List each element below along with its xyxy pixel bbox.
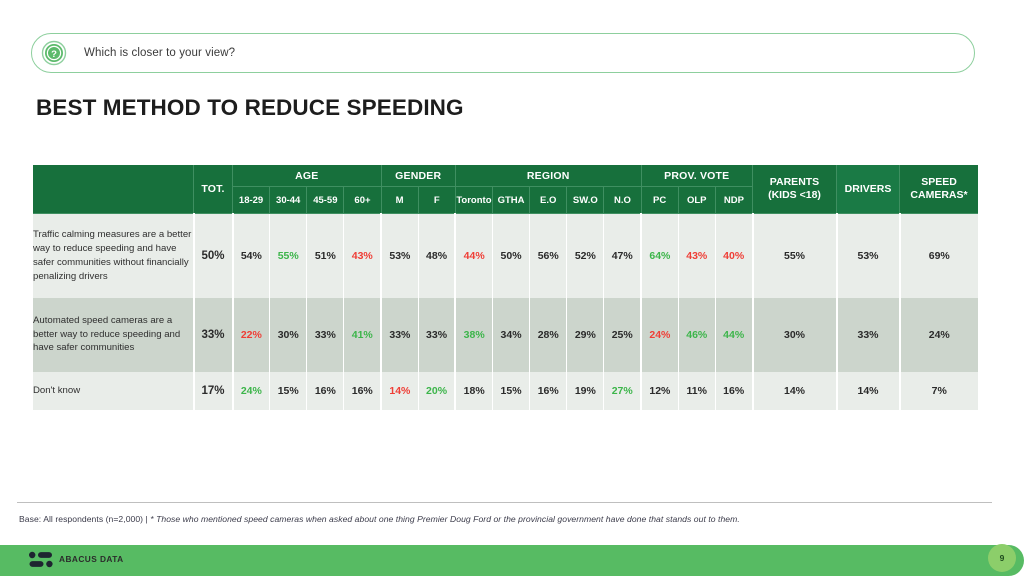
table-cell: 53%: [381, 214, 418, 298]
table-cell: 20%: [418, 372, 455, 410]
header-group-age: AGE: [233, 165, 382, 187]
table-cell: 52%: [567, 214, 604, 298]
table-cell: 14%: [753, 372, 837, 410]
table-row: Don't know17%24%15%16%16%14%20%18%15%16%…: [33, 372, 978, 410]
header-parents-line1: PARENTS(KIDS <18): [768, 176, 821, 201]
abacus-data-logo-icon: [29, 551, 53, 568]
table-cell: 16%: [530, 372, 567, 410]
table-cell: 54%: [233, 214, 270, 298]
page-title: BEST METHOD TO REDUCE SPEEDING: [36, 95, 464, 121]
table-cell: 33%: [837, 298, 900, 372]
header-group-row: TOT. AGE GENDER REGION PROV. VOTE PARENT…: [33, 165, 978, 187]
footer-note: Base: All respondents (n=2,000) | * Thos…: [19, 514, 740, 524]
table-cell: 43%: [678, 214, 715, 298]
table-cell: 50%: [492, 214, 529, 298]
table-cell: 69%: [900, 214, 979, 298]
header-parents: PARENTS(KIDS <18): [753, 165, 837, 214]
table-cell: 16%: [715, 372, 752, 410]
footer-divider: [17, 502, 992, 503]
table-cell: 40%: [715, 214, 752, 298]
header-region-eo: E.O: [530, 187, 567, 214]
header-gender-m: M: [381, 187, 418, 214]
header-region-no: N.O: [604, 187, 641, 214]
table-cell: 29%: [567, 298, 604, 372]
header-age-60plus: 60+: [344, 187, 381, 214]
table-cell: 7%: [900, 372, 979, 410]
table-cell: 30%: [753, 298, 837, 372]
table-cell: 53%: [837, 214, 900, 298]
table-cell: 41%: [344, 298, 381, 372]
header-group-prov-vote: PROV. VOTE: [641, 165, 752, 187]
svg-text:?: ?: [51, 49, 57, 60]
table-cell: 22%: [233, 298, 270, 372]
header-group-region: REGION: [455, 165, 641, 187]
table-cell: 33%: [194, 298, 233, 372]
header-group-gender: GENDER: [381, 165, 455, 187]
table-cell: 14%: [381, 372, 418, 410]
table-cell: 27%: [604, 372, 641, 410]
table-cell: 38%: [455, 298, 492, 372]
header-vote-olp: OLP: [678, 187, 715, 214]
table-body: Traffic calming measures are a better wa…: [33, 214, 978, 410]
footer-base-text: Base: All respondents (n=2,000) |: [19, 514, 150, 524]
header-age-18-29: 18-29: [233, 187, 270, 214]
question-text: Which is closer to your view?: [84, 47, 235, 59]
header-vote-ndp: NDP: [715, 187, 752, 214]
table-cell: 56%: [530, 214, 567, 298]
table-cell: 14%: [837, 372, 900, 410]
table-cell: 55%: [753, 214, 837, 298]
table-cell: 15%: [270, 372, 307, 410]
page-number-badge: 9: [988, 544, 1016, 572]
table-cell: 12%: [641, 372, 678, 410]
table-cell: 33%: [381, 298, 418, 372]
header-total: TOT.: [194, 165, 233, 214]
table-cell: 17%: [194, 372, 233, 410]
header-age-45-59: 45-59: [307, 187, 344, 214]
footer-asterisk-note: * Those who mentioned speed cameras when…: [150, 514, 740, 524]
table-cell: 19%: [567, 372, 604, 410]
table-cell: 51%: [307, 214, 344, 298]
table-cell: 30%: [270, 298, 307, 372]
header-region-swo: SW.O: [567, 187, 604, 214]
table-cell: 46%: [678, 298, 715, 372]
table-cell: 47%: [604, 214, 641, 298]
row-label: Automated speed cameras are a better way…: [33, 298, 194, 372]
table-cell: 44%: [715, 298, 752, 372]
header-gender-f: F: [418, 187, 455, 214]
table-cell: 24%: [641, 298, 678, 372]
table-cell: 24%: [233, 372, 270, 410]
brand-bar: [0, 545, 1024, 576]
row-label: Don't know: [33, 372, 194, 410]
table-cell: 34%: [492, 298, 529, 372]
table-cell: 28%: [530, 298, 567, 372]
table-row: Automated speed cameras are a better way…: [33, 298, 978, 372]
question-bar: ? Which is closer to your view?: [31, 33, 975, 73]
table-cell: 25%: [604, 298, 641, 372]
question-mark-circle-icon: ?: [41, 40, 67, 66]
header-corner-blank: [33, 165, 194, 214]
table-cell: 44%: [455, 214, 492, 298]
table-cell: 64%: [641, 214, 678, 298]
table-cell: 16%: [344, 372, 381, 410]
table-cell: 24%: [900, 298, 979, 372]
header-region-toronto: Toronto: [455, 187, 492, 214]
table-cell: 33%: [307, 298, 344, 372]
table-row: Traffic calming measures are a better wa…: [33, 214, 978, 298]
header-vote-pc: PC: [641, 187, 678, 214]
results-table: TOT. AGE GENDER REGION PROV. VOTE PARENT…: [33, 165, 978, 410]
table-cell: 55%: [270, 214, 307, 298]
table-cell: 18%: [455, 372, 492, 410]
table-cell: 50%: [194, 214, 233, 298]
brand-name: ABACUS DATA: [59, 554, 124, 564]
header-drivers: DRIVERS: [837, 165, 900, 214]
table-cell: 16%: [307, 372, 344, 410]
header-speed-cameras: SPEEDCAMERAS*: [900, 165, 979, 214]
table-cell: 33%: [418, 298, 455, 372]
header-age-30-44: 30-44: [270, 187, 307, 214]
table-cell: 11%: [678, 372, 715, 410]
table-cell: 43%: [344, 214, 381, 298]
row-label: Traffic calming measures are a better wa…: [33, 214, 194, 298]
table-cell: 15%: [492, 372, 529, 410]
table-header: TOT. AGE GENDER REGION PROV. VOTE PARENT…: [33, 165, 978, 214]
table-cell: 48%: [418, 214, 455, 298]
header-region-gtha: GTHA: [492, 187, 529, 214]
